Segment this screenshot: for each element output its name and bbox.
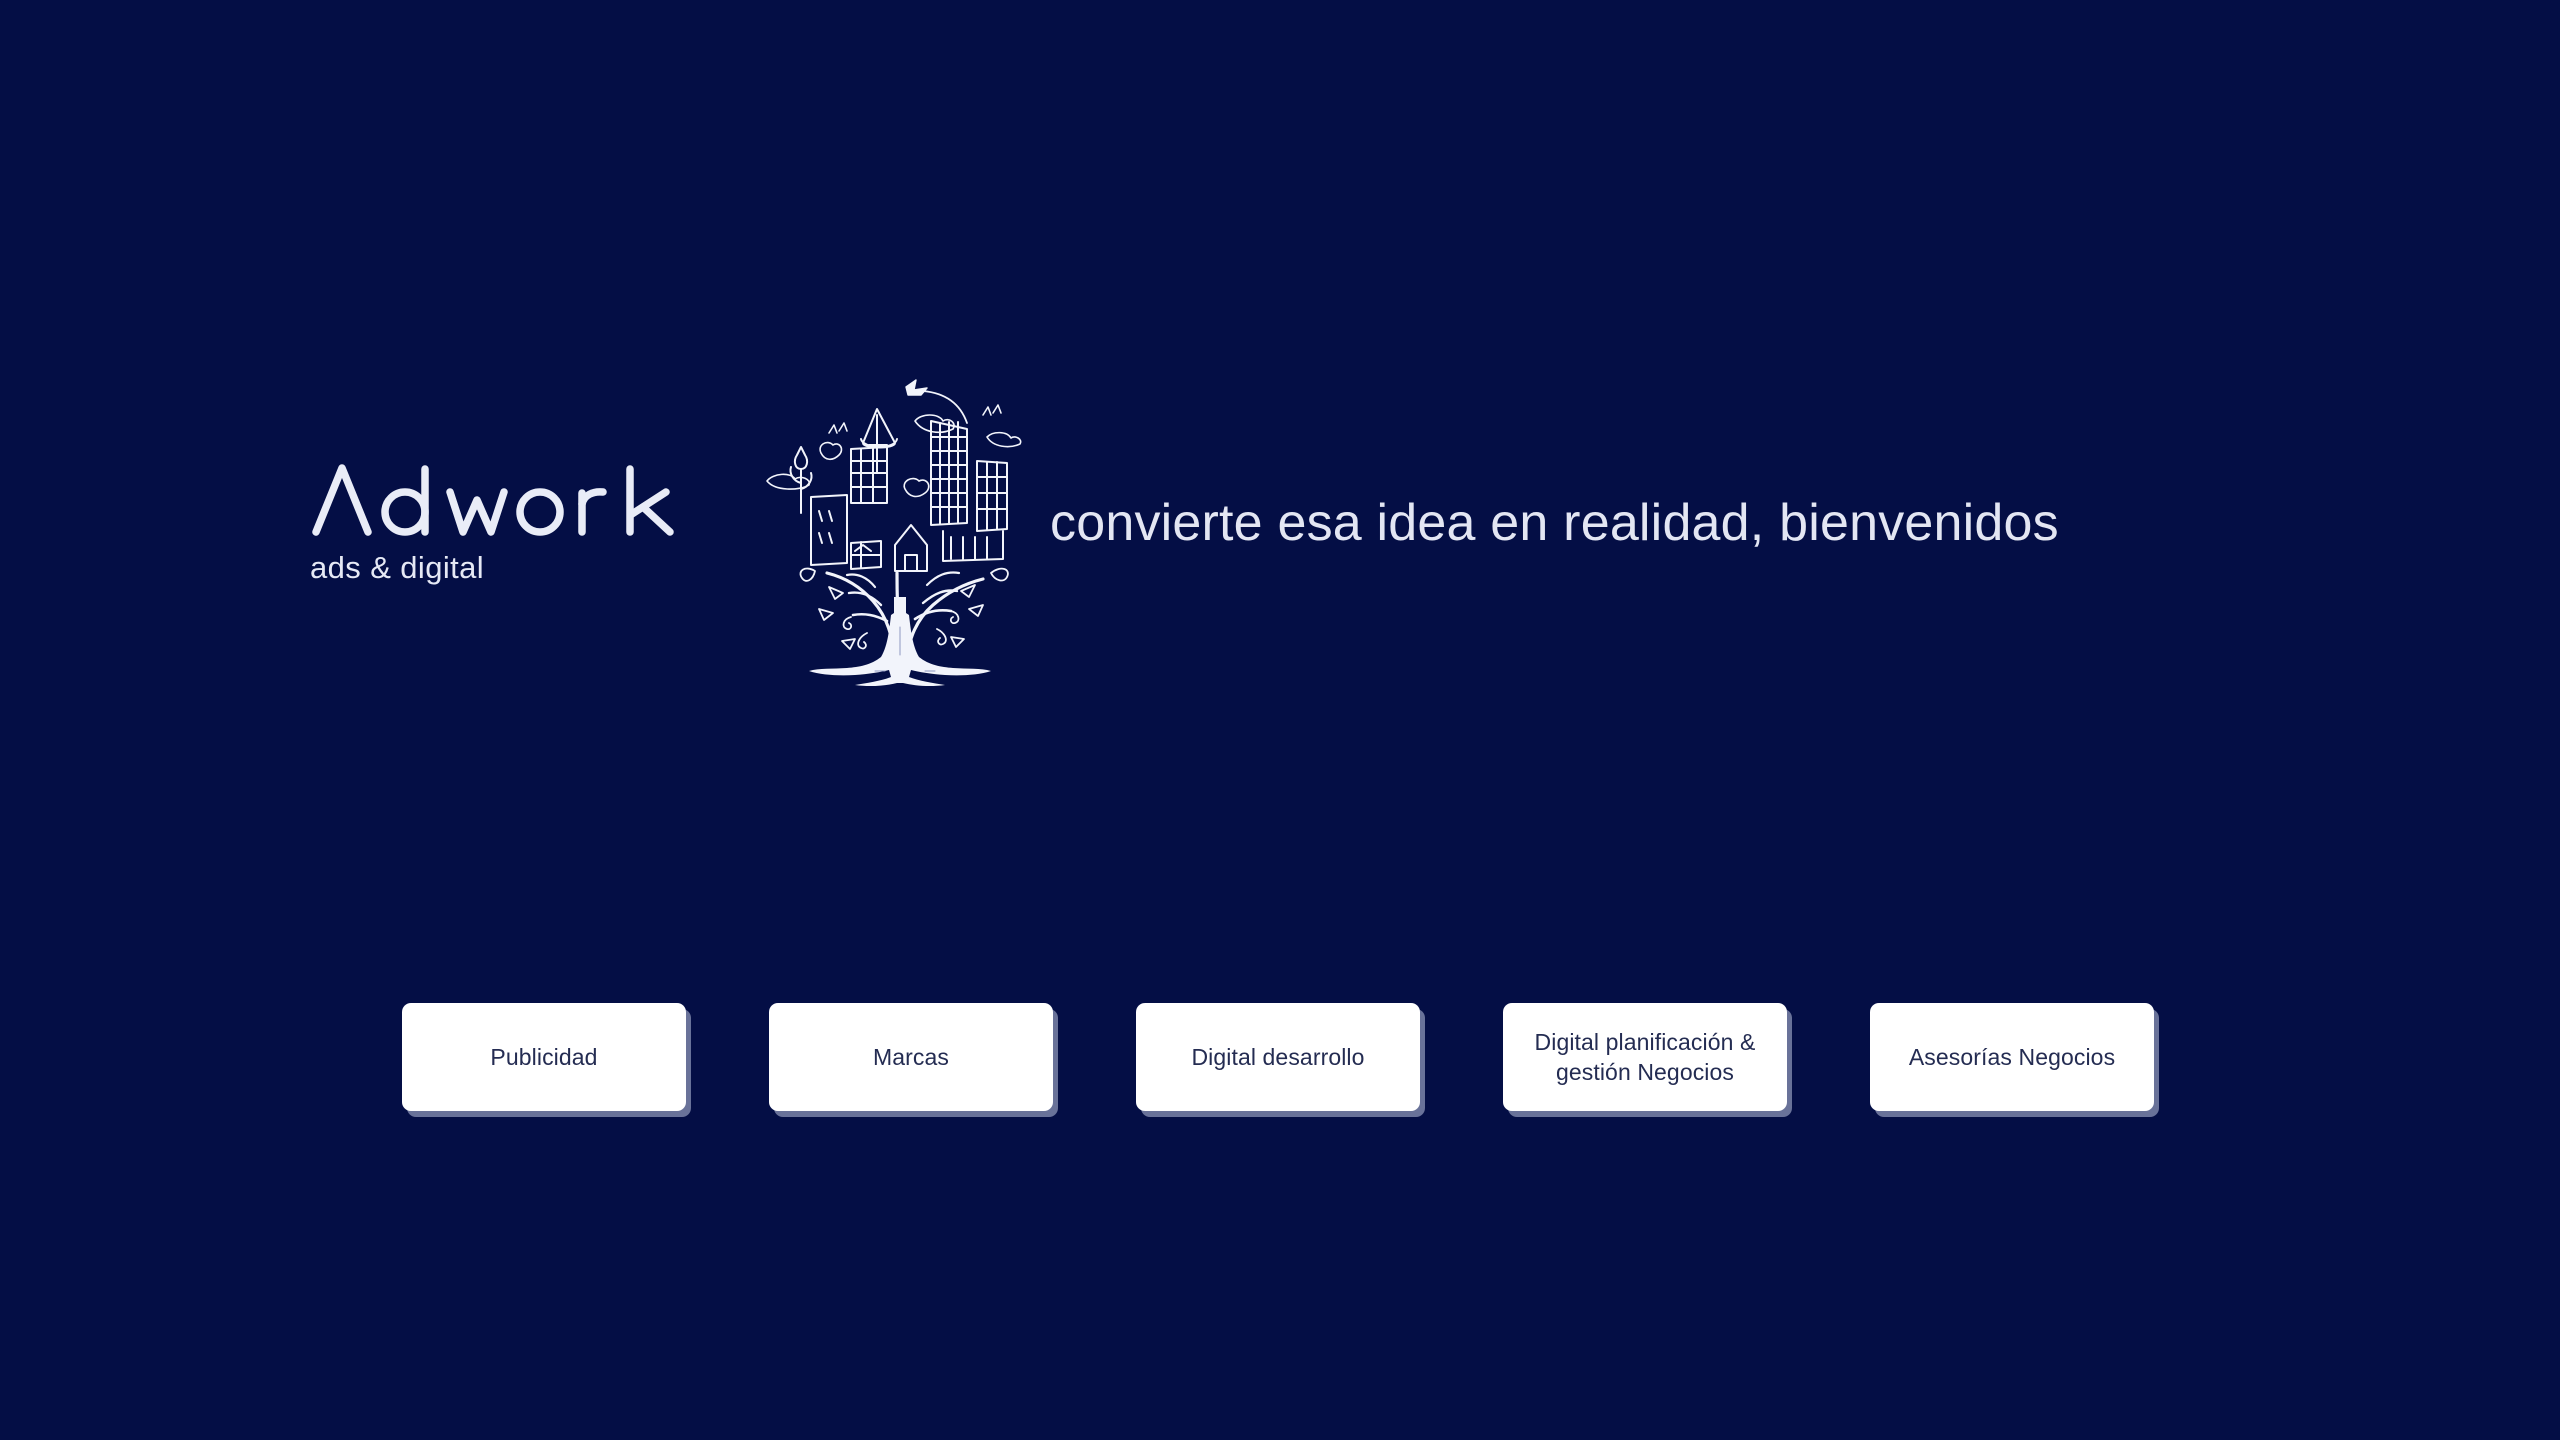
nav-button-publicidad[interactable]: Publicidad bbox=[402, 1003, 686, 1111]
service-button-row: Publicidad Marcas Digital desarrollo Dig… bbox=[402, 1003, 2154, 1111]
nav-button-digital-desarrollo[interactable]: Digital desarrollo bbox=[1136, 1003, 1420, 1111]
page-root: ads & digital bbox=[0, 0, 2560, 1440]
city-tree-illustration bbox=[755, 365, 1045, 695]
nav-button-digital-planificacion-gestion-negocios[interactable]: Digital planificación & gestión Negocios bbox=[1503, 1003, 1787, 1111]
logo-wordmark-adwork bbox=[310, 460, 740, 538]
nav-button-marcas[interactable]: Marcas bbox=[769, 1003, 1053, 1111]
brand-logo[interactable]: ads & digital bbox=[310, 460, 750, 583]
nav-button-asesorias-negocios[interactable]: Asesorías Negocios bbox=[1870, 1003, 2154, 1111]
hero-section: ads & digital bbox=[0, 355, 2560, 705]
hero-headline: convierte esa idea en realidad, bienveni… bbox=[1050, 497, 2059, 549]
logo-tagline: ads & digital bbox=[310, 552, 750, 583]
